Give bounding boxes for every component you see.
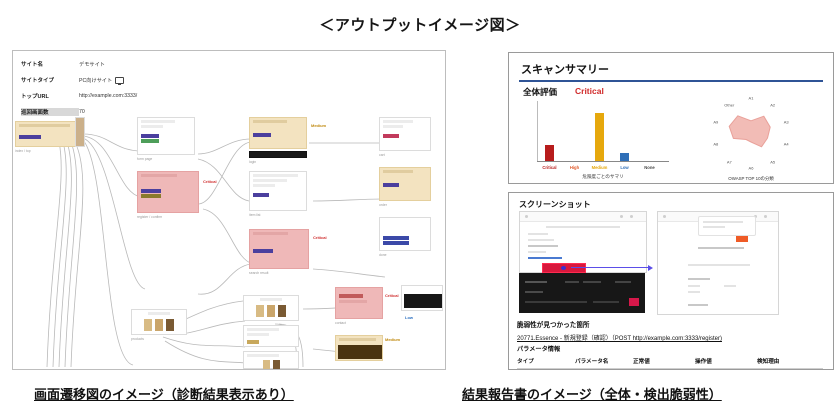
node-caption: index / top bbox=[15, 149, 31, 153]
browser-toolbar bbox=[520, 212, 646, 222]
scan-summary-title: スキャンサマリー bbox=[521, 61, 609, 77]
node-caption: done bbox=[379, 253, 387, 257]
bar-label-medium: Medium bbox=[592, 165, 608, 170]
diagram-node-right-a[interactable] bbox=[379, 117, 431, 151]
bar-critical bbox=[545, 145, 554, 161]
meta-value-site-type-text: PC向けサイト bbox=[79, 77, 112, 84]
meta-value-site-type: PC向けサイト bbox=[79, 77, 124, 84]
node-caption: contact bbox=[335, 321, 346, 325]
col-normal-value: 正常値 bbox=[633, 357, 695, 365]
radar-label-a2: A2 bbox=[770, 102, 775, 107]
diagram-node-vuln-critical-3[interactable] bbox=[335, 287, 383, 319]
status-badge: Medium bbox=[311, 123, 326, 128]
bar-chart-caption: 危険度ごとのサマリ bbox=[543, 174, 663, 180]
bar-label-none: None bbox=[644, 165, 654, 170]
browser-profile-icon bbox=[630, 215, 633, 218]
transition-diagram-panel: サイト名 デモサイト サイトタイプ PC向けサイト トップURL http://… bbox=[12, 50, 446, 370]
status-badge: Critical bbox=[313, 235, 327, 240]
finding-link[interactable]: 20771.Essence - 新規登録（確認）（POST http://exa… bbox=[517, 333, 722, 342]
node-caption: search result bbox=[249, 271, 268, 275]
site-transition-diagram[interactable]: index / top form page register / confirm… bbox=[13, 109, 445, 369]
diagram-node-dark-strip[interactable] bbox=[249, 151, 307, 158]
chart-y-axis bbox=[537, 101, 538, 161]
meta-value-top-url: http://example.com:3333/ bbox=[79, 93, 137, 99]
param-table-header: タイプ パラメータ名 正常値 操作値 検知理由 bbox=[517, 357, 823, 369]
browser-profile-icon bbox=[764, 215, 767, 218]
screenshot-panel: スクリーンショット bbox=[508, 192, 834, 370]
radar-label-a6: A6 bbox=[749, 166, 754, 171]
node-caption: item list bbox=[249, 213, 261, 217]
caption-right: 結果報告書のイメージ（全体・検出脆弱性） bbox=[462, 384, 722, 403]
severity-bar-chart: Critical High Medium Low None 危険度ごとのサマリ bbox=[523, 101, 673, 173]
bar-medium bbox=[595, 113, 604, 161]
chart-x-axis bbox=[537, 161, 669, 162]
meta-label-site-type: サイトタイプ bbox=[21, 76, 79, 84]
radar-label-a3: A3 bbox=[784, 120, 789, 125]
diagram-node-detail-a[interactable] bbox=[243, 325, 299, 347]
diagram-node-products-a[interactable] bbox=[131, 309, 187, 335]
bar-label-high: High bbox=[570, 165, 579, 170]
radar-label-a9: A9 bbox=[713, 120, 718, 125]
browser-mock-left[interactable] bbox=[519, 211, 647, 273]
caption-left: 画面遷移図のイメージ（診断結果表示あり） bbox=[34, 384, 294, 403]
diagram-node-beige-a[interactable] bbox=[249, 117, 307, 149]
diagram-node-root[interactable] bbox=[15, 121, 81, 147]
table-row: トップURL http://example.com:3333/ bbox=[21, 88, 241, 104]
alert-popover bbox=[698, 216, 756, 236]
overall-rating-label: 全体評価 bbox=[523, 86, 557, 98]
node-caption: register / confirm bbox=[137, 215, 162, 219]
overall-rating-value: Critical bbox=[575, 86, 604, 96]
meta-label-top-url: トップURL bbox=[21, 92, 79, 100]
node-caption: cart bbox=[379, 153, 385, 157]
radar-label-a1: A1 bbox=[749, 95, 754, 100]
diagram-node-form[interactable] bbox=[137, 117, 195, 155]
diagram-node-right-b[interactable] bbox=[379, 167, 431, 201]
diagram-node-stack[interactable] bbox=[75, 117, 85, 147]
radar-label-a8: A8 bbox=[713, 141, 718, 146]
meta-label-site-name: サイト名 bbox=[21, 60, 79, 68]
status-badge: Medium bbox=[385, 337, 400, 342]
diagram-node-detail-b[interactable] bbox=[243, 351, 299, 369]
radar-label-a5: A5 bbox=[770, 159, 775, 164]
finding-location-heading: 脆弱性が見つかった箇所 bbox=[517, 319, 590, 329]
title-divider bbox=[519, 80, 823, 82]
monitor-icon bbox=[115, 77, 124, 84]
browser-mock-dark[interactable] bbox=[519, 273, 645, 313]
col-detect-reason: 検知理由 bbox=[757, 357, 817, 365]
diagram-node-vuln-medium[interactable] bbox=[335, 335, 383, 361]
status-badge: Critical bbox=[203, 179, 217, 184]
status-badge: Critical bbox=[385, 293, 399, 298]
flow-arrow bbox=[571, 267, 649, 268]
browser-logo-icon bbox=[663, 215, 666, 218]
table-row: サイトタイプ PC向けサイト bbox=[21, 72, 241, 88]
node-caption: login bbox=[249, 160, 256, 164]
screenshot-panel-title: スクリーンショット bbox=[519, 199, 591, 210]
status-badge: Low bbox=[405, 315, 413, 320]
bar-low bbox=[620, 153, 629, 161]
diagram-node-right-c[interactable] bbox=[379, 217, 431, 251]
radar-chart-caption: OWASP TOP 10の分類 bbox=[681, 176, 821, 182]
scan-summary-panel: スキャンサマリー 全体評価 Critical Critical High Med… bbox=[508, 52, 834, 184]
dark-cta-button[interactable] bbox=[629, 298, 639, 306]
radar-label-a7: A7 bbox=[727, 159, 732, 164]
owasp-radar-chart: A1 A2 A3 A4 A5 A6 A7 A8 A9 Other OWASP T… bbox=[681, 97, 821, 177]
browser-mock-right[interactable] bbox=[657, 211, 779, 315]
param-info-heading: パラメータ情報 bbox=[517, 344, 560, 353]
node-caption: order bbox=[379, 203, 387, 207]
radar-label-other: Other bbox=[724, 102, 734, 107]
col-operated-value: 操作値 bbox=[695, 357, 757, 365]
diagram-node-list[interactable] bbox=[249, 171, 307, 211]
bar-label-critical: Critical bbox=[542, 165, 556, 170]
diagram-node-right-dark[interactable] bbox=[401, 285, 443, 311]
col-type: タイプ bbox=[517, 357, 575, 365]
radar-label-a4: A4 bbox=[784, 141, 789, 146]
table-row: サイト名 デモサイト bbox=[21, 56, 241, 72]
col-param-name: パラメータ名 bbox=[575, 357, 633, 365]
diagram-node-products-b[interactable] bbox=[243, 295, 299, 321]
node-caption: products bbox=[131, 337, 144, 341]
page-title: ＜アウトプットイメージ図＞ bbox=[0, 14, 840, 35]
browser-menu-icon bbox=[620, 215, 623, 218]
bar-label-low: Low bbox=[620, 165, 628, 170]
alert-badge bbox=[736, 236, 748, 242]
diagram-node-vuln-critical[interactable] bbox=[137, 171, 199, 213]
browser-logo-icon bbox=[525, 215, 528, 218]
radar-polygon bbox=[681, 97, 821, 171]
diagram-node-vuln-critical-2[interactable] bbox=[249, 229, 309, 269]
node-caption: form page bbox=[137, 157, 152, 161]
meta-value-site-name: デモサイト bbox=[79, 61, 105, 68]
